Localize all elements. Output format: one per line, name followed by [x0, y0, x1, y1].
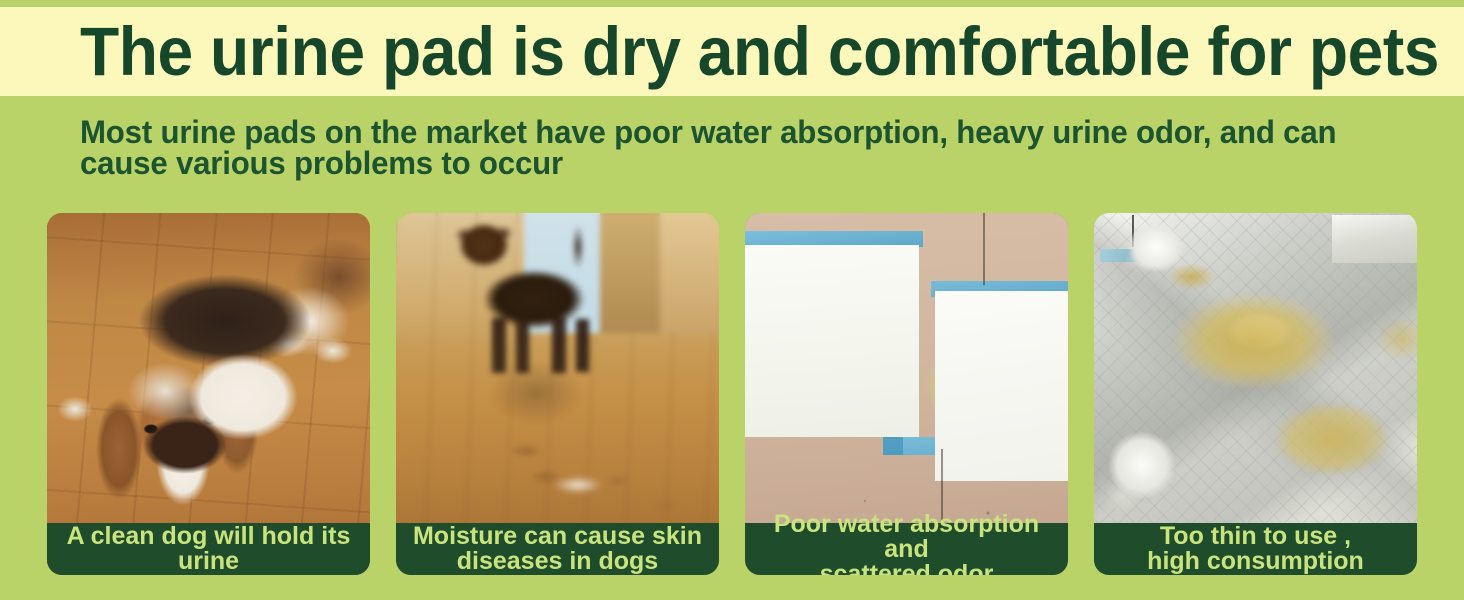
- subtitle-text: Most urine pads on the market have poor …: [80, 117, 1338, 179]
- crumpled-pads-urine-pooling-image: [1094, 213, 1417, 575]
- beagle-lying-on-wooden-floor-image: [47, 213, 370, 575]
- top-accent-strip: [0, 0, 1464, 7]
- feature-card-row: A clean dog will hold its urine Moisture…: [47, 213, 1417, 575]
- page-title: The urine pad is dry and comfortable for…: [80, 9, 1298, 95]
- card-caption: Too thin to use , high consumption: [1094, 523, 1417, 575]
- card-skin-disease: Moisture can cause skin diseases in dogs: [396, 213, 719, 575]
- card-too-thin: Too thin to use , high consumption: [1094, 213, 1417, 575]
- card-caption: Poor water absorption and scattered odor: [745, 523, 1068, 575]
- card-poor-absorption: Poor water absorption and scattered odor: [745, 213, 1068, 575]
- card-caption: A clean dog will hold its urine: [47, 523, 370, 575]
- card-caption: Moisture can cause skin diseases in dogs: [396, 523, 719, 575]
- promo-banner: The urine pad is dry and comfortable for…: [0, 0, 1464, 600]
- card-clean-dog: A clean dog will hold its urine: [47, 213, 370, 575]
- dog-standing-near-mess-image: [396, 213, 719, 575]
